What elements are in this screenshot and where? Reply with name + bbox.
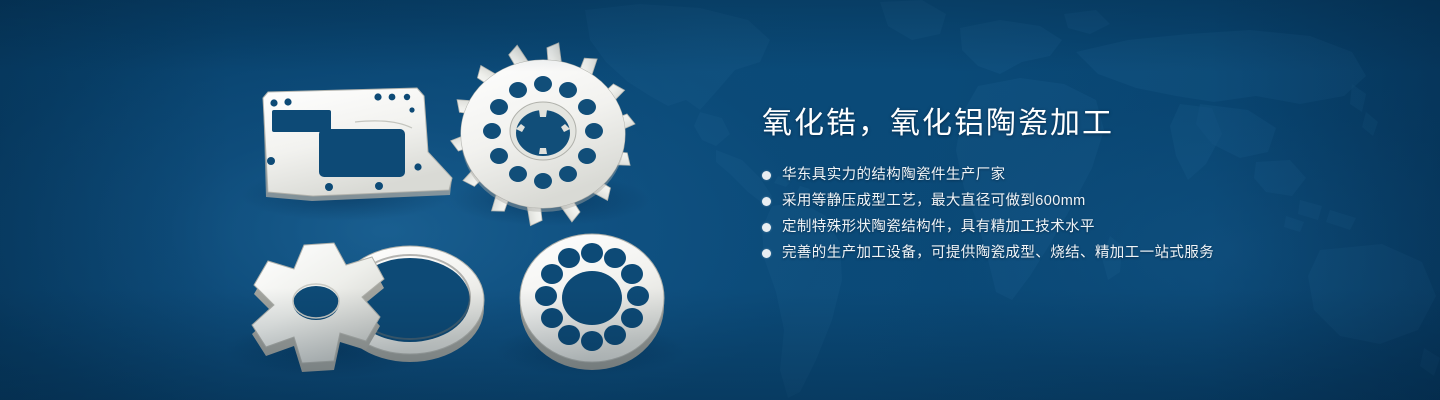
bullet-dot-icon	[762, 171, 771, 180]
feature-text: 采用等静压成型工艺，最大直径可做到600mm	[782, 192, 1086, 211]
bullet-dot-icon	[762, 197, 771, 206]
banner-copy: 氧化锆，氧化铝陶瓷加工 华东具实力的结构陶瓷件生产厂家 采用等静压成型工艺，最大…	[762, 105, 1382, 270]
feature-text: 完善的生产加工设备，可提供陶瓷成型、烧结、精加工一站式服务	[782, 244, 1214, 263]
list-item: 完善的生产加工设备，可提供陶瓷成型、烧结、精加工一站式服务	[762, 244, 1382, 263]
bullet-dot-icon	[762, 249, 771, 258]
feature-text: 定制特殊形状陶瓷结构件，具有精加工技术水平	[782, 218, 1095, 237]
list-item: 华东具实力的结构陶瓷件生产厂家	[762, 166, 1382, 185]
bullet-dot-icon	[762, 223, 771, 232]
feature-list: 华东具实力的结构陶瓷件生产厂家 采用等静压成型工艺，最大直径可做到600mm 定…	[762, 166, 1382, 263]
list-item: 采用等静压成型工艺，最大直径可做到600mm	[762, 192, 1382, 211]
banner-title: 氧化锆，氧化铝陶瓷加工	[762, 105, 1382, 142]
list-item: 定制特殊形状陶瓷结构件，具有精加工技术水平	[762, 218, 1382, 237]
feature-text: 华东具实力的结构陶瓷件生产厂家	[782, 166, 1006, 185]
ceramic-processing-banner: 氧化锆，氧化铝陶瓷加工 华东具实力的结构陶瓷件生产厂家 采用等静压成型工艺，最大…	[0, 0, 1440, 400]
